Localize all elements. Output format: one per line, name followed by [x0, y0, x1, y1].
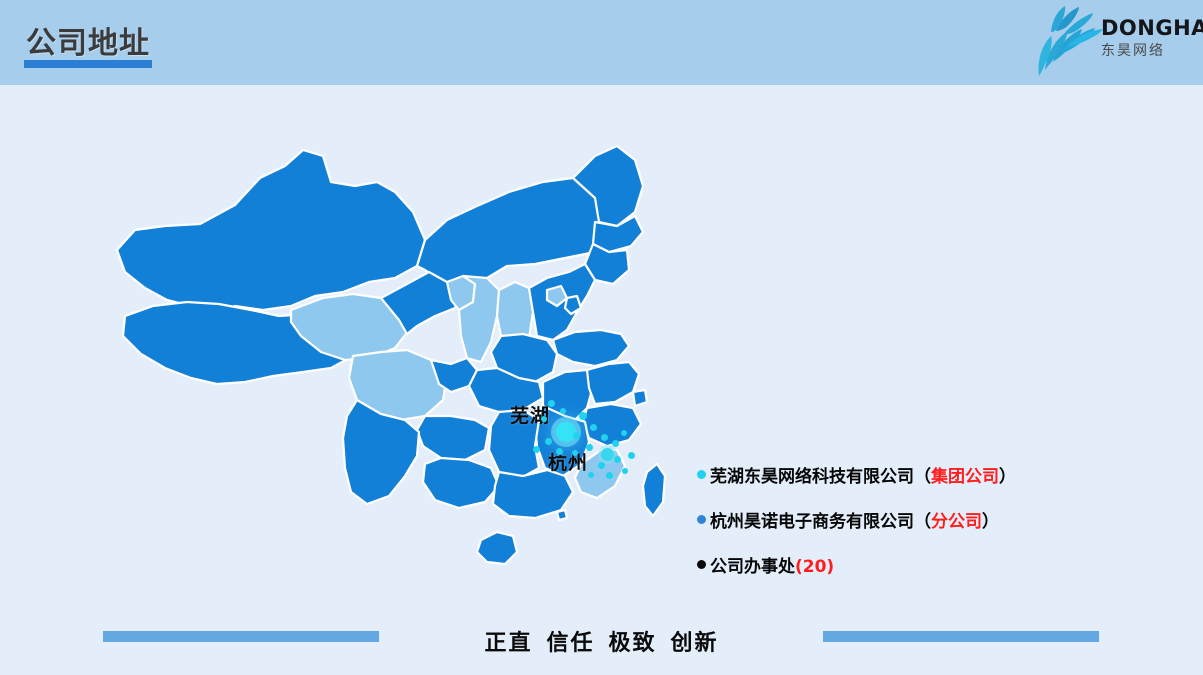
wing-fan-icon [1025, 6, 1109, 78]
logo-name-en: DONGHAO [1101, 18, 1197, 39]
header-band: 公司地址 DONGHAO [0, 0, 1203, 85]
page-title: 公司地址 [26, 18, 150, 62]
legend-label-group: 芜湖东昊网络科技有限公司（集团公司） [710, 462, 1016, 487]
legend-bullet-offices-icon [697, 560, 706, 569]
legend-label-branch: 杭州昊诺电子商务有限公司（分公司） [710, 507, 999, 532]
brand-logo: DONGHAO 东昊网络 [1017, 4, 1195, 78]
legend-bullet-branch-icon [697, 515, 706, 524]
legend: 芜湖东昊网络科技有限公司（集团公司） 杭州昊诺电子商务有限公司（分公司） 公司办… [697, 462, 1117, 597]
legend-item-group[interactable]: 芜湖东昊网络科技有限公司（集团公司） [697, 462, 1117, 487]
slogan-word: 极致 [609, 631, 657, 656]
slogan-word: 信任 [546, 631, 594, 656]
logo-wordmark: DONGHAO 东昊网络 [1101, 18, 1197, 58]
china-map[interactable] [95, 120, 675, 610]
legend-bullet-group-icon [697, 470, 706, 479]
slogan-word: 创新 [671, 631, 719, 656]
logo-name-cn: 东昊网络 [1101, 44, 1197, 58]
legend-item-branch[interactable]: 杭州昊诺电子商务有限公司（分公司） [697, 507, 1117, 532]
title-underline [24, 60, 152, 68]
map-label-hangzhou: 杭州 [548, 448, 588, 475]
legend-label-offices: 公司办事处(20) [710, 552, 834, 577]
slogan-word: 正直 [484, 631, 532, 656]
map-label-wuhu: 芜湖 [510, 401, 550, 428]
legend-item-offices[interactable]: 公司办事处(20) [697, 552, 1117, 577]
footer-slogan: 正直信任极致创新 [0, 625, 1203, 657]
slide-root: 公司地址 DONGHAO [0, 0, 1203, 675]
